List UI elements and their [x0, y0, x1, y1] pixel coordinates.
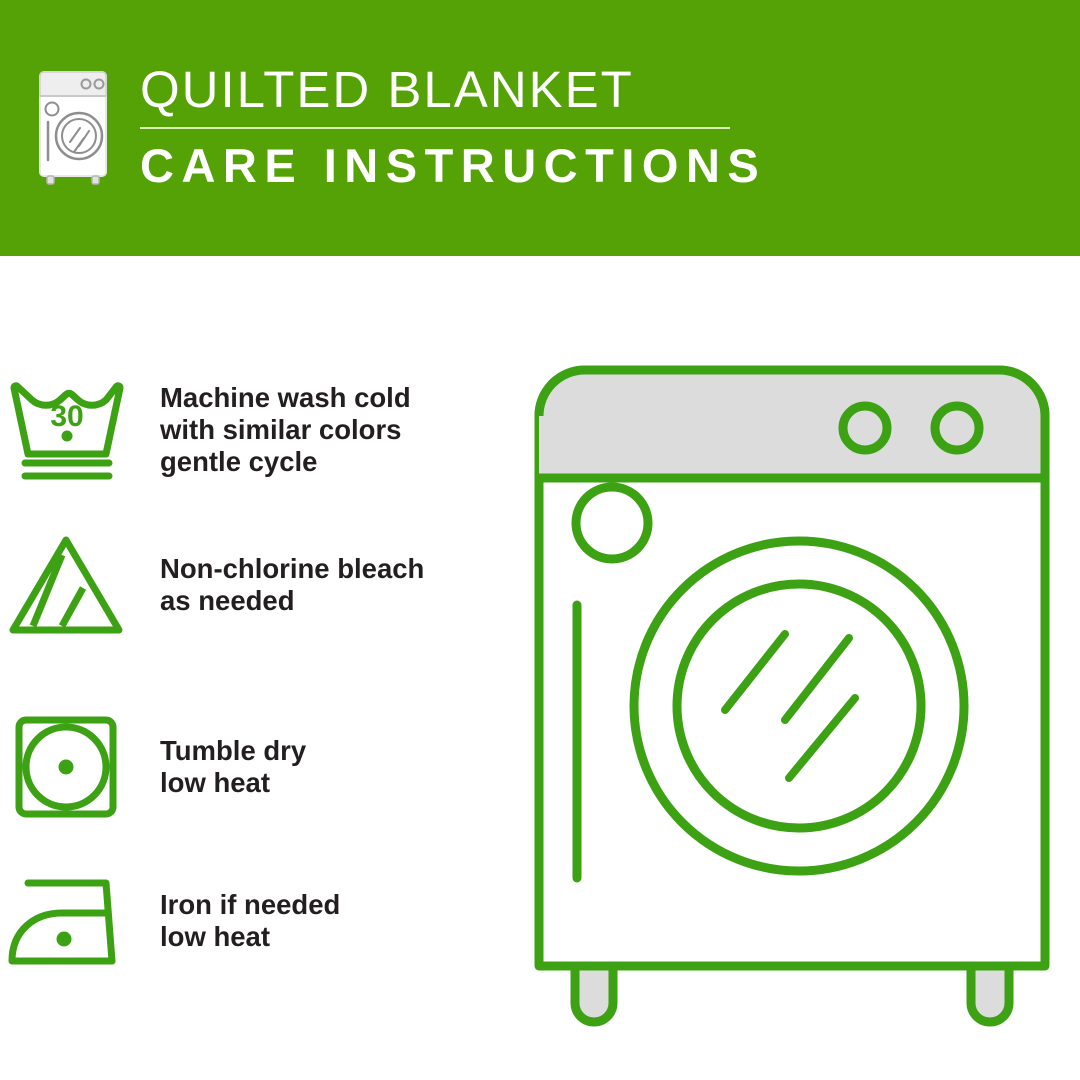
- non-chlorine-bleach-triangle-icon: [4, 533, 128, 637]
- page-title: QUILTED BLANKET: [140, 62, 766, 118]
- care-instruction-list: 30 Machine wash cold with similar colors…: [0, 256, 520, 1080]
- care-label-iron: Iron if needed low heat: [160, 889, 340, 953]
- header-divider: [140, 127, 730, 129]
- iron-low-heat-icon: [2, 869, 130, 973]
- wash-tub-30-gentle-icon: 30: [4, 374, 128, 486]
- machine-leg-left: [575, 965, 613, 1022]
- care-label-line: Tumble dry: [160, 735, 306, 767]
- header-title-group: QUILTED BLANKET CARE INSTRUCTIONS: [140, 62, 766, 192]
- care-label-line: with similar colors: [160, 414, 411, 446]
- care-item-iron: Iron if needed low heat: [0, 869, 520, 973]
- care-label-line: Iron if needed: [160, 889, 340, 921]
- wash-dot: [62, 431, 73, 442]
- machine-control-panel: [539, 370, 1045, 478]
- care-label-line: Machine wash cold: [160, 382, 411, 414]
- washing-machine-icon: [36, 68, 110, 186]
- iron-heat-dot: [57, 932, 72, 947]
- care-label-machine-wash: Machine wash cold with similar colors ge…: [160, 382, 411, 478]
- care-icon-slot: [0, 533, 132, 637]
- header-content: QUILTED BLANKET CARE INSTRUCTIONS: [36, 62, 766, 192]
- wash-temperature-label: 30: [50, 400, 83, 433]
- machine-leg-right: [971, 965, 1009, 1022]
- care-label-line: gentle cycle: [160, 446, 411, 478]
- care-label-line: low heat: [160, 921, 340, 953]
- care-item-machine-wash: 30 Machine wash cold with similar colors…: [0, 374, 520, 486]
- header-banner: QUILTED BLANKET CARE INSTRUCTIONS: [0, 0, 1080, 256]
- care-label-bleach: Non-chlorine bleach as needed: [160, 553, 424, 617]
- care-label-line: Non-chlorine bleach: [160, 553, 424, 585]
- care-label-line: low heat: [160, 767, 306, 799]
- page-subtitle: CARE INSTRUCTIONS: [140, 140, 766, 192]
- care-icon-slot: [0, 869, 132, 973]
- care-item-bleach: Non-chlorine bleach as needed: [0, 533, 520, 637]
- care-label-line: as needed: [160, 585, 424, 617]
- care-label-tumble-dry: Tumble dry low heat: [160, 735, 306, 799]
- dry-heat-dot: [59, 760, 74, 775]
- care-icon-slot: [0, 712, 132, 822]
- tumble-dry-low-heat-icon: [11, 712, 121, 822]
- care-icon-slot: 30: [0, 374, 132, 486]
- front-load-washing-machine-illustration: [527, 358, 1057, 1028]
- care-item-tumble-dry: Tumble dry low heat: [0, 712, 520, 822]
